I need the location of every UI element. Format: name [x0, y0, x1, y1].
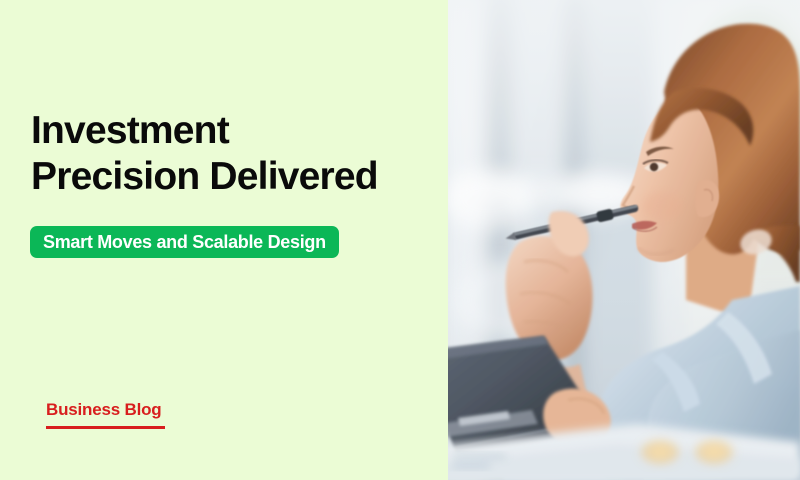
hero-banner: Investment Precision Delivered Smart Mov…	[0, 0, 800, 480]
blog-label: Business Blog	[46, 400, 165, 420]
hero-photo	[448, 0, 800, 480]
blog-label-group: Business Blog	[46, 400, 165, 429]
page-title: Investment Precision Delivered	[31, 108, 431, 200]
hero-photo-illustration	[448, 0, 800, 480]
headline-line-2: Precision Delivered	[31, 154, 431, 200]
headline-line-1: Investment	[31, 108, 431, 154]
text-panel: Investment Precision Delivered Smart Mov…	[0, 0, 448, 480]
blog-label-underline	[46, 426, 165, 429]
tagline-badge: Smart Moves and Scalable Design	[30, 226, 339, 258]
